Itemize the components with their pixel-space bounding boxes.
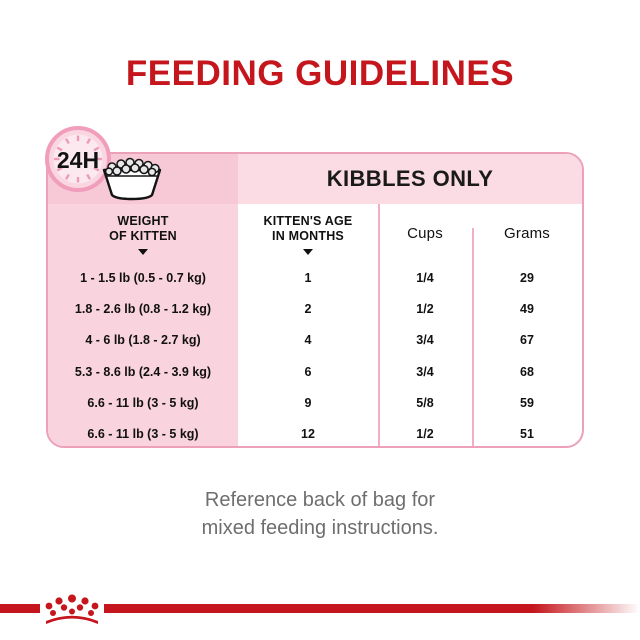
table-row: 67 [472,325,582,356]
table-row: 3/4 [378,356,472,387]
column-header-weight: WEIGHT OF KITTEN [48,204,238,262]
royal-canin-crown-logo [0,592,640,626]
table-row: 1/4 [378,262,472,293]
column-header-age: KITTEN'S AGE IN MONTHS [238,204,378,262]
table-row: 1 [238,262,378,293]
column-header-weight-line1: WEIGHT [117,214,168,229]
footer-note: Reference back of bag for mixed feeding … [0,487,640,542]
badge-graphic: 24H [36,126,162,204]
table-row: 59 [472,387,582,418]
table-row: 4 [238,325,378,356]
table-row: 5.3 - 8.6 lb (2.4 - 3.9 kg) [48,356,238,387]
feeding-frequency-badge: 24H [36,126,162,204]
table-row: 5/8 [378,387,472,418]
table-row: 9 [238,387,378,418]
column-header-cups: Cups [378,204,472,262]
chevron-down-icon [138,249,148,255]
table-row: 1 - 1.5 lb (0.5 - 0.7 kg) [48,262,238,293]
table-row: 1/2 [378,293,472,324]
chevron-down-icon [303,249,313,255]
column-header-age-line1: KITTEN'S AGE [264,214,353,229]
table-row: 6.6 - 11 lb (3 - 5 kg) [48,419,238,448]
column-header-age-line2: IN MONTHS [272,229,344,244]
table-row: 12 [238,419,378,448]
table-row: 1/2 [378,419,472,448]
badge-label: 24H [57,147,99,173]
table-row: 6.6 - 11 lb (3 - 5 kg) [48,387,238,418]
column-header-grams: Grams [472,204,582,262]
table-row: 29 [472,262,582,293]
table-row: 1.8 - 2.6 lb (0.8 - 1.2 kg) [48,293,238,324]
brand-bar [0,592,640,626]
table-row: 6 [238,356,378,387]
food-bowl-icon [104,159,160,200]
feeding-table: WEIGHT OF KITTEN KITTEN'S AGE IN MONTHS … [48,204,582,448]
footer-note-line1: Reference back of bag for [0,487,640,515]
table-row: 49 [472,293,582,324]
footer-note-line2: mixed feeding instructions. [0,515,640,543]
table-row: 51 [472,419,582,448]
column-header-weight-line2: OF KITTEN [109,229,177,244]
table-row: 3/4 [378,325,472,356]
table-row: 2 [238,293,378,324]
column-header-cups-label: Cups [407,225,443,243]
table-row: 68 [472,356,582,387]
page-title: FEEDING GUIDELINES [0,54,640,94]
table-row: 4 - 6 lb (1.8 - 2.7 kg) [48,325,238,356]
column-header-grams-label: Grams [504,225,550,243]
